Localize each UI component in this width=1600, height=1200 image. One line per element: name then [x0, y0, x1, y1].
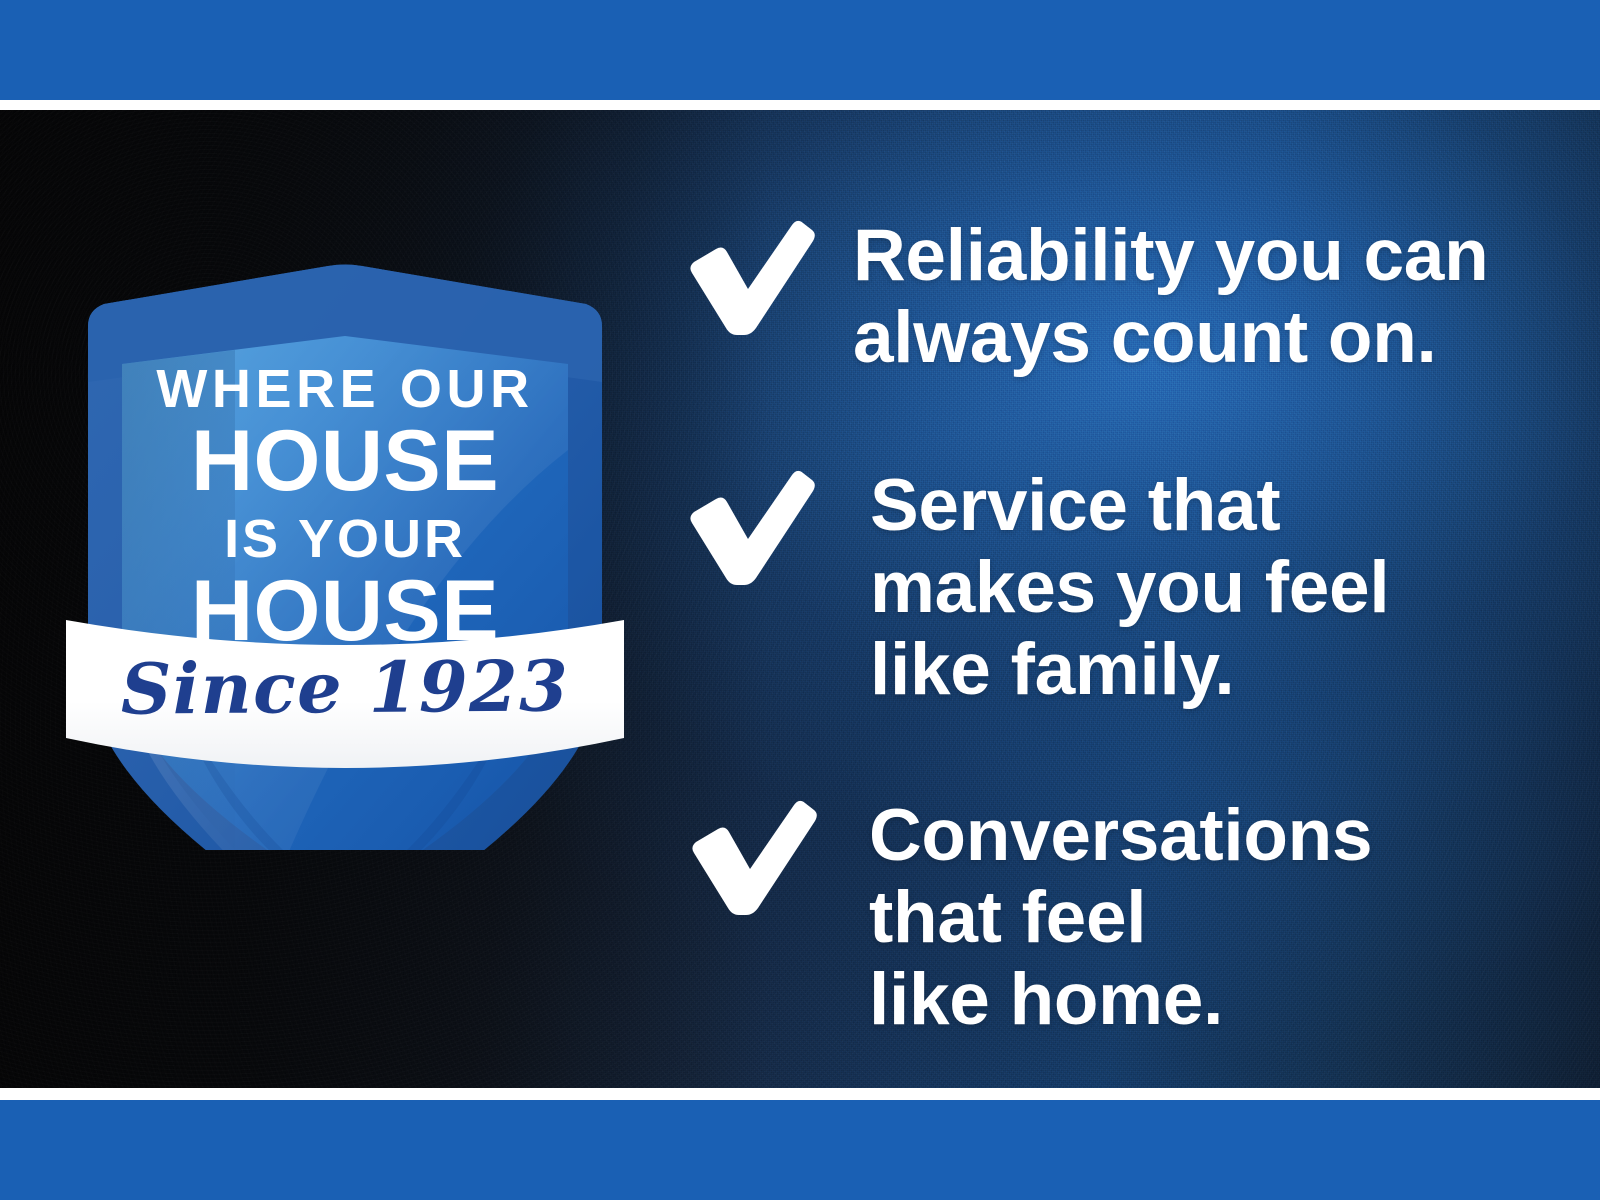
check-icon	[680, 465, 815, 585]
list-item: Conversations that feel like home.	[682, 795, 1372, 1040]
bottom-brand-bar	[0, 1100, 1600, 1200]
check-icon	[682, 795, 817, 915]
shield-icon	[60, 150, 630, 850]
list-item-label: Reliability you can always count on.	[853, 215, 1488, 379]
shield-emblem: Where our House is your House Since 1923	[60, 150, 630, 850]
benefits-list: Reliability you can always count on. Ser…	[670, 110, 1550, 1088]
check-icon	[680, 215, 815, 335]
list-item-label: Service that makes you feel like family.	[870, 465, 1389, 710]
list-item-label: Conversations that feel like home.	[869, 795, 1372, 1040]
top-brand-bar	[0, 0, 1600, 100]
list-item: Reliability you can always count on.	[680, 215, 1488, 379]
list-item: Service that makes you feel like family.	[680, 465, 1389, 710]
promo-poster: Where our House is your House Since 1923…	[0, 0, 1600, 1200]
